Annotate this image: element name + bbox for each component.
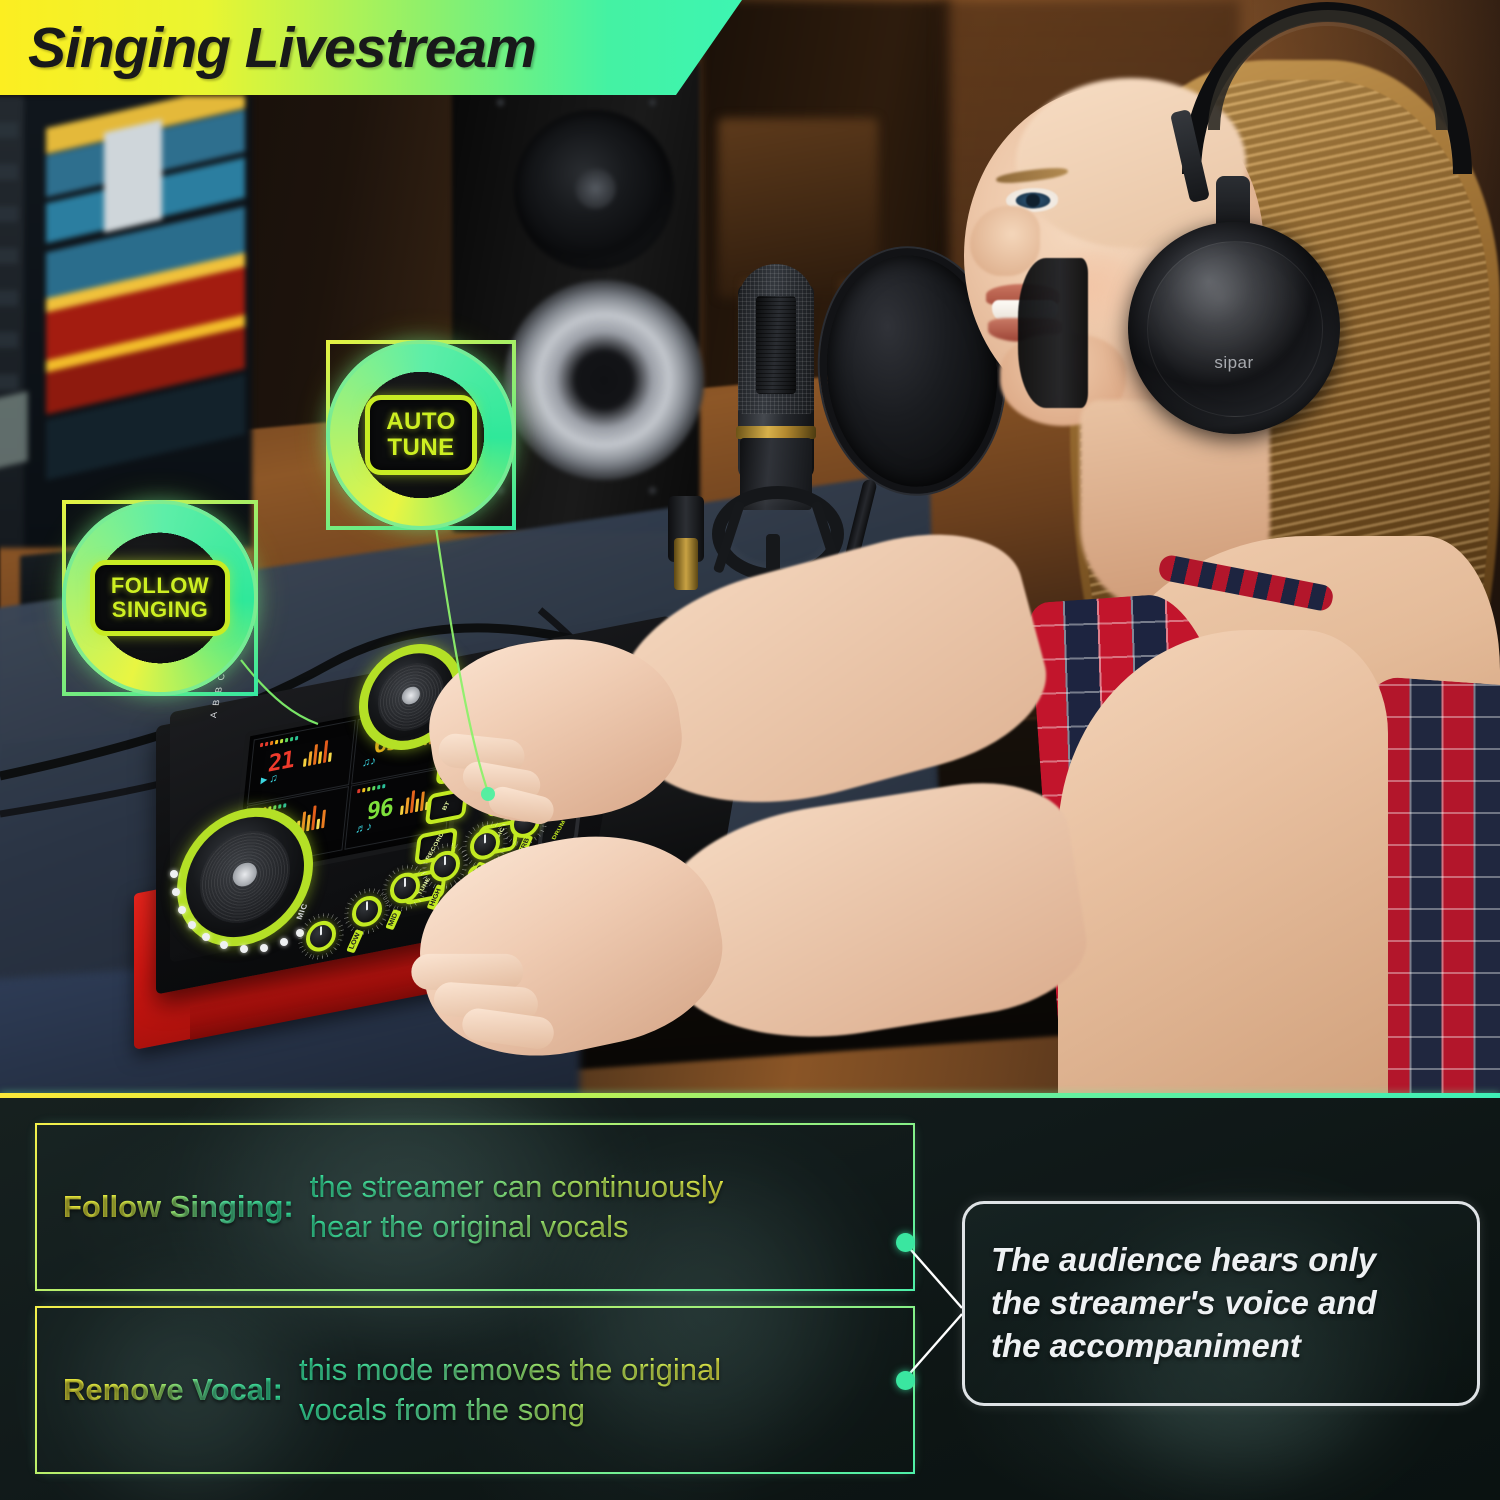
info-label: Follow Singing: xyxy=(63,1189,294,1225)
callout-label-box: AUTO TUNE xyxy=(365,395,477,475)
connector-dot-top xyxy=(896,1233,915,1252)
callout-line-1: AUTO xyxy=(386,409,456,435)
speaker-tweeter xyxy=(514,110,674,270)
daw-sidebar xyxy=(0,96,24,548)
info-label: Remove Vocal: xyxy=(63,1372,283,1408)
info-box-follow-singing: Follow Singing: the streamer can continu… xyxy=(35,1123,915,1291)
info-desc-line-1: this mode removes the original xyxy=(299,1350,721,1390)
callout-line-2: TUNE xyxy=(386,435,456,461)
note-line-3: the accompaniment xyxy=(991,1325,1377,1368)
upper-arm xyxy=(1058,630,1388,1096)
callout-label-box: FOLLOW SINGING xyxy=(90,560,230,636)
note-line-1: The audience hears only xyxy=(991,1239,1377,1282)
callout-line-1: FOLLOW xyxy=(111,574,209,598)
callout-follow-singing[interactable]: FOLLOW SINGING xyxy=(62,500,258,696)
audience-note-box: The audience hears only the streamer's v… xyxy=(962,1201,1480,1406)
page-title: Singing Livestream xyxy=(28,15,536,81)
callout-auto-tune[interactable]: AUTO TUNE xyxy=(326,340,516,530)
microphone-grille-inner xyxy=(756,296,796,394)
headphone-earcup-far xyxy=(1018,258,1088,408)
headphone-brand-logo: sipar xyxy=(1214,353,1253,373)
info-desc-line-2: hear the original vocals xyxy=(310,1207,724,1247)
headphone-headband-pad xyxy=(1208,10,1448,130)
connector-dot-bottom xyxy=(896,1371,915,1390)
callout-line-2: SINGING xyxy=(111,598,209,622)
product-feature-image: 21 ►♫ 63 ♫♪ xyxy=(0,0,1500,1500)
mic-stand-gold-collar xyxy=(674,538,698,590)
computer-monitor xyxy=(0,96,252,548)
info-desc-line-1: the streamer can continuously xyxy=(310,1167,724,1207)
note-line-2: the streamer's voice and xyxy=(991,1282,1377,1325)
headphone-earcup: sipar xyxy=(1128,222,1340,434)
info-box-remove-vocal: Remove Vocal: this mode removes the orig… xyxy=(35,1306,915,1474)
info-desc-line-2: vocals from the song xyxy=(299,1390,721,1430)
nose xyxy=(970,206,1040,276)
photo-scene: 21 ►♫ 63 ♫♪ xyxy=(0,0,1500,1096)
header-banner: Singing Livestream xyxy=(0,0,742,95)
